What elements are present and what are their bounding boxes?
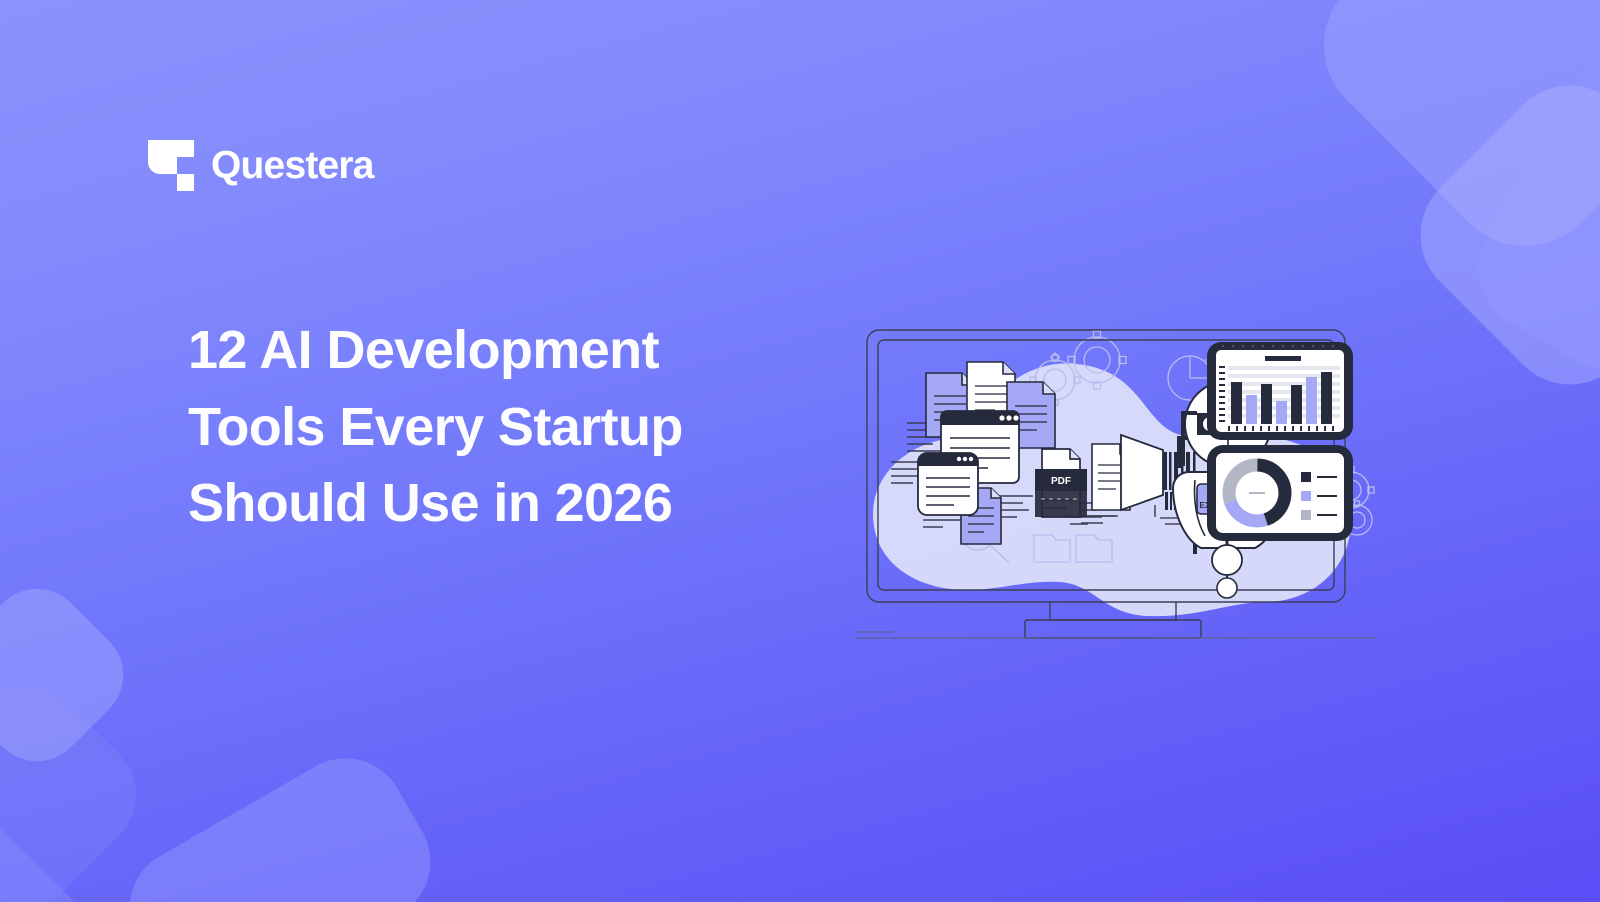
donut-chart-tablet	[1207, 445, 1353, 541]
bar-4	[1276, 401, 1287, 424]
bar-7	[1321, 372, 1332, 424]
decorative-shape-top-right-1	[1292, 0, 1600, 278]
browser-window	[918, 453, 978, 515]
illustration-svg: PDF	[845, 320, 1385, 650]
bar-6	[1306, 377, 1317, 424]
pdf-document: PDF	[1035, 449, 1087, 517]
decorative-shape-bottom-left-1	[0, 569, 143, 781]
bar-5	[1291, 385, 1302, 424]
banner-stage: Questera 12 AI Development Tools Every S…	[0, 0, 1600, 902]
headline-line-3: Should Use in 2026	[188, 465, 828, 542]
brand-logo[interactable]: Questera	[148, 140, 374, 192]
headline-line-1: 12 AI Development	[188, 312, 828, 389]
page-title: 12 AI Development Tools Every Startup Sh…	[188, 312, 828, 542]
decorative-shape-top-right-2	[1393, 58, 1600, 412]
brand-name: Questera	[211, 144, 374, 188]
bar-chart-tablet	[1207, 342, 1353, 440]
questera-shield-mark-icon	[148, 140, 194, 192]
headline-line-2: Tools Every Startup	[188, 389, 828, 466]
bar-3	[1261, 384, 1272, 424]
pdf-label: PDF	[1051, 476, 1071, 487]
decorative-shape-top-right-3	[1456, 0, 1600, 391]
bar-2	[1246, 395, 1257, 424]
bar-1	[1231, 382, 1242, 424]
decorative-shape-bottom-left-2	[0, 703, 159, 902]
decorative-shape-bottom-left-3	[108, 736, 453, 902]
ai-data-extraction-illustration: PDF	[845, 320, 1385, 650]
decorative-shape-bottom-left-4	[0, 661, 159, 902]
